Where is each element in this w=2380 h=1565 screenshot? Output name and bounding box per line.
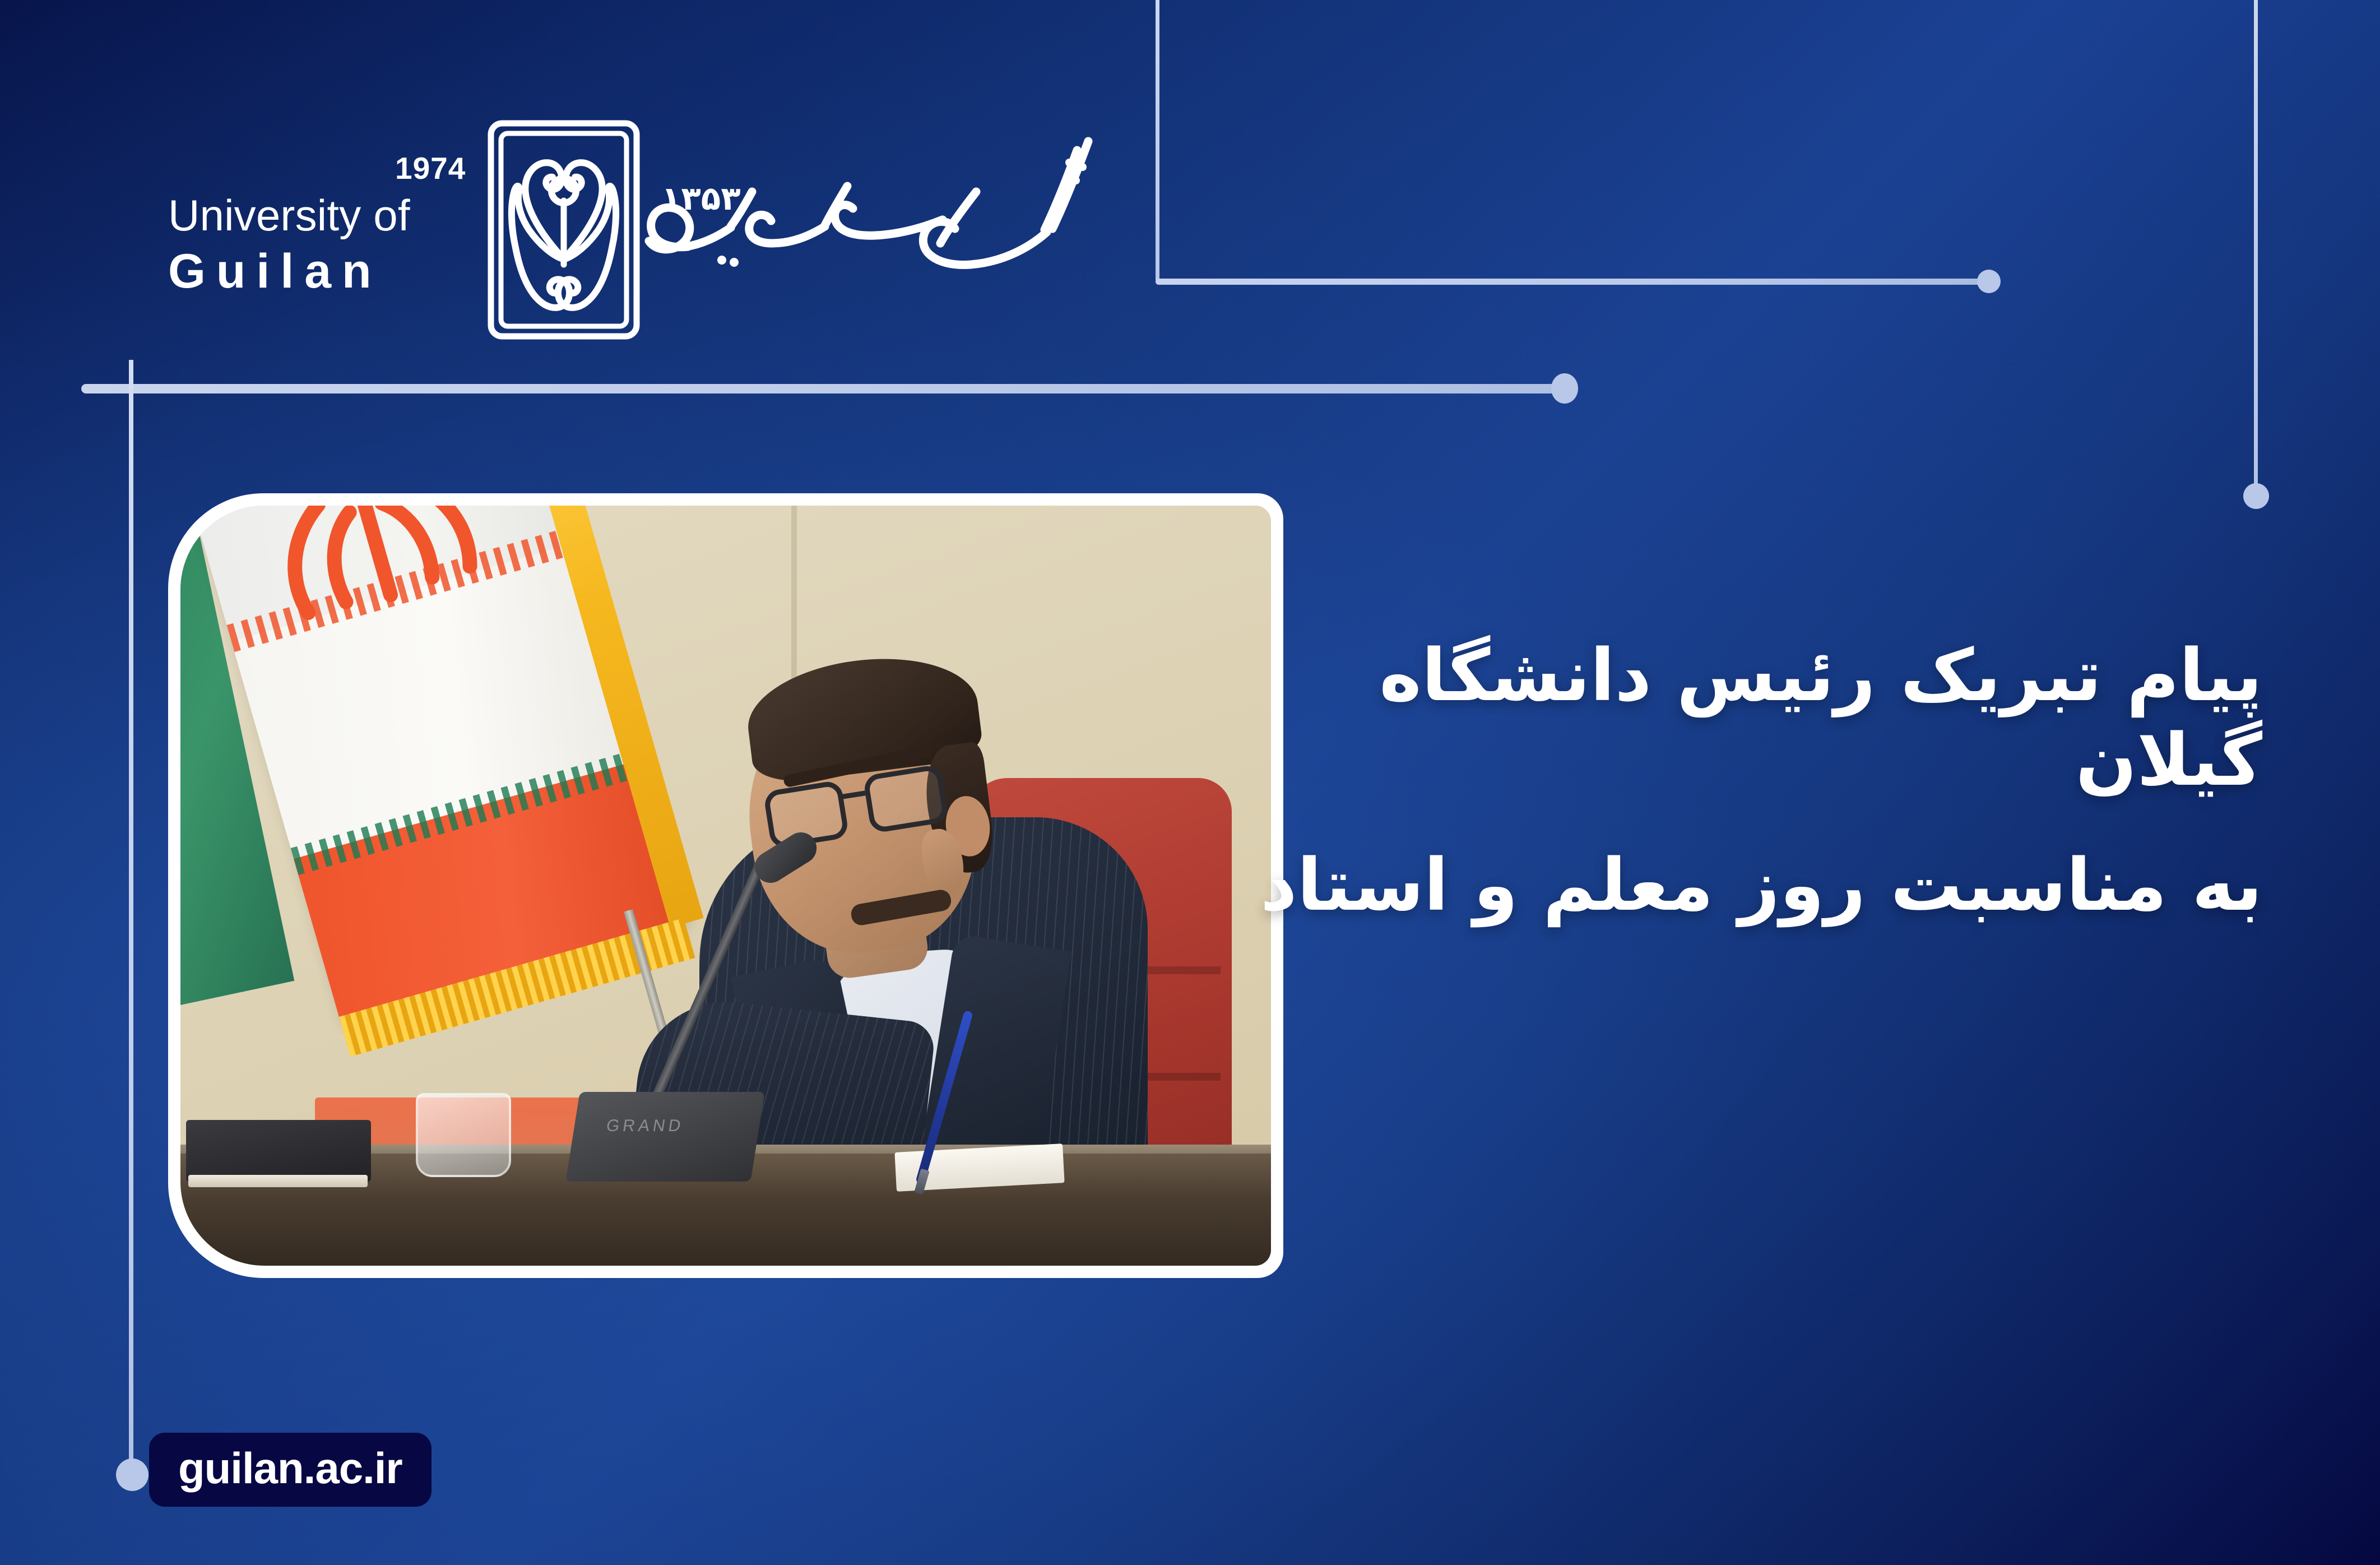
left-vertical-end-dot bbox=[116, 1458, 149, 1491]
top-right-vertical-rule bbox=[1156, 0, 1159, 280]
headline-line-1: پیام تبریک رئیس دانشگاه گیلان bbox=[1254, 633, 2262, 803]
left-horizontal-end-dot bbox=[1551, 373, 1578, 404]
eyeglass-lens-front bbox=[862, 764, 949, 834]
banner-canvas: University of Guilan 1974 ۱۳۵۳ bbox=[0, 0, 2380, 1565]
left-horizontal-rule bbox=[81, 384, 1572, 393]
microphone-brand-label: GRAND bbox=[605, 1117, 685, 1136]
closed-book bbox=[186, 1120, 371, 1182]
logo-english-line2: Guilan bbox=[168, 246, 493, 297]
right-vertical-end-dot bbox=[2243, 483, 2269, 509]
logo-english-line1: University of bbox=[168, 193, 493, 238]
logo-english-name: University of Guilan bbox=[168, 193, 493, 297]
drinking-glass bbox=[416, 1093, 511, 1177]
hero-photo-card: GRAND bbox=[168, 493, 1283, 1278]
right-vertical-rule bbox=[2254, 0, 2258, 484]
headline-block: پیام تبریک رئیس دانشگاه گیلان به مناسبت … bbox=[1254, 633, 2262, 928]
website-url-badge[interactable]: guilan.ac.ir bbox=[149, 1433, 432, 1507]
microphone-base bbox=[565, 1092, 764, 1182]
university-logo-lockup: University of Guilan 1974 ۱۳۵۳ bbox=[168, 135, 1110, 359]
logo-year-gregorian: 1974 bbox=[395, 150, 466, 186]
hero-photo: GRAND bbox=[180, 506, 1271, 1266]
logo-persian-name bbox=[584, 96, 1111, 332]
top-right-horizontal-rule bbox=[1156, 279, 1984, 285]
top-right-end-dot bbox=[1977, 270, 2001, 293]
left-vertical-rule bbox=[129, 360, 133, 1480]
book-pages bbox=[188, 1175, 368, 1187]
headline-line-2: به مناسبت روز معلم و استاد bbox=[1254, 843, 2262, 928]
